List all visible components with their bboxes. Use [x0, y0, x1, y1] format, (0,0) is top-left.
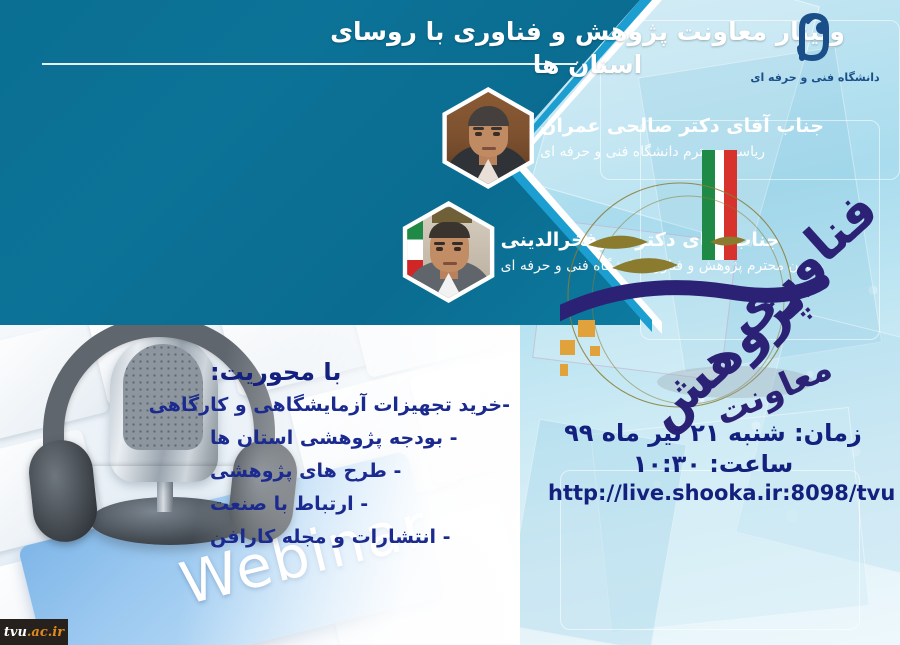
speaker-1-name: جناب آقای دکتر صالحی عمران [540, 113, 824, 141]
watermark-secondary: .ac.ir [27, 625, 64, 640]
tvu-emblem-icon [750, 8, 880, 66]
event-date: زمان: شنبه ۲۱ تیر ماه ۹۹ [548, 418, 878, 449]
speaker-1-avatar [436, 86, 540, 190]
agenda-heading: با محوریت: [210, 358, 510, 386]
event-info-block: زمان: شنبه ۲۱ تیر ماه ۹۹ ساعت: ۱۰:۳۰ htt… [548, 418, 878, 505]
agenda-item: - انتشارات و مجله کارافن [210, 528, 510, 547]
university-name: دانشگاه فنی و حرفه ای [750, 71, 880, 84]
agenda-block: با محوریت: -خرید تجهیزات آزمایشگاهی و کا… [210, 358, 510, 561]
site-watermark: tvu.ac.ir [0, 619, 68, 645]
webinar-poster: Webinar وبینار معاونت پژوهش و فناوری با … [0, 0, 900, 645]
event-stream-url[interactable]: http://live.shooka.ir:8098/tvu [548, 481, 878, 505]
title-underline [42, 63, 577, 65]
agenda-item: -خرید تجهیزات آزمایشگاهی و کارگاهی [210, 396, 510, 415]
watermark-primary: tvu [4, 625, 27, 640]
agenda-item: - طرح های پژوهشی [210, 462, 510, 481]
research-technology-calligraphy-logo: فناوری پژوهش معاونت [560, 150, 890, 420]
agenda-item: - بودجه پژوهشی استان ها [210, 429, 510, 448]
event-time: ساعت: ۱۰:۳۰ [548, 449, 878, 480]
agenda-item: - ارتباط با صنعت [210, 495, 510, 514]
speaker-2-avatar [397, 200, 501, 304]
